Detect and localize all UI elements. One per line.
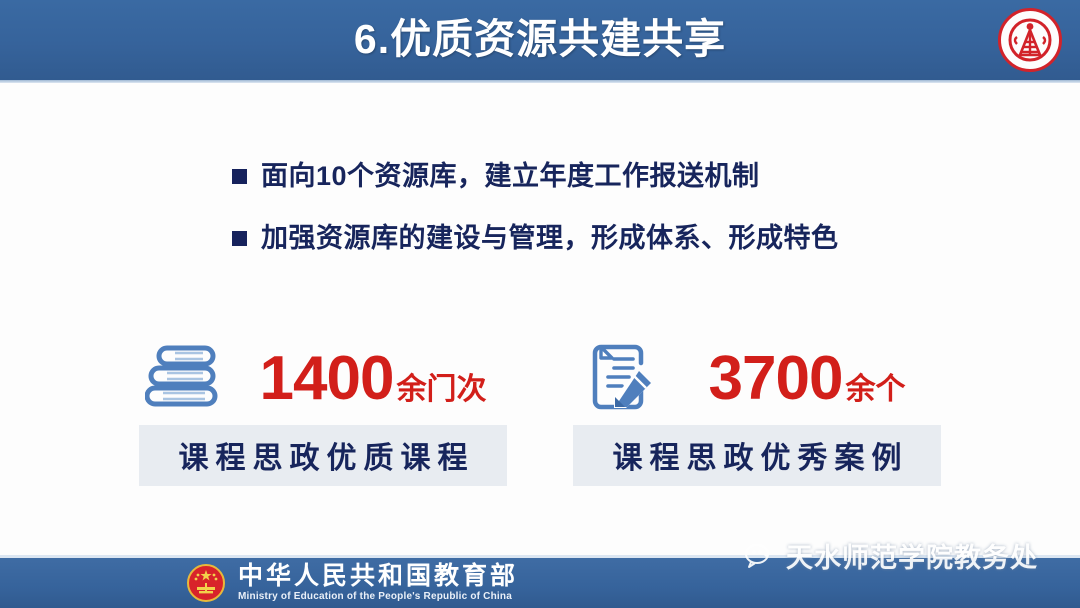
stat-unit: 余个 [845, 375, 905, 405]
slide-body: 面向10个资源库，建立年度工作报送机制 加强资源库的建设与管理，形成体系、形成特… [0, 83, 1080, 558]
ministry-of-education-logo: 中华人民共和国教育部 Ministry of Education of the … [186, 558, 518, 608]
watermark-label: 天水师范学院教务处 [786, 543, 1038, 573]
slide-canvas: 6.优质资源共建共享 面向10个资源库，建立年度工作报送机制 加强资源库的建设与… [0, 0, 1080, 608]
wechat-watermark: 天水师范学院教务处 [744, 543, 1038, 573]
stat-top-row: 1400 余门次 [139, 333, 507, 425]
ministry-text: 中华人民共和国教育部 Ministry of Education of the … [238, 563, 518, 603]
document-pencil-icon [573, 339, 669, 419]
ministry-name-en: Ministry of Education of the People's Re… [238, 590, 518, 603]
list-item: 面向10个资源库，建立年度工作报送机制 [232, 158, 1032, 194]
ministry-name-cn: 中华人民共和国教育部 [238, 563, 518, 590]
page-title: 6.优质资源共建共享 [0, 8, 1080, 70]
stacked-books-icon [139, 341, 235, 417]
stat-block-cases: 3700 余个 课程思政优秀案例 [573, 333, 941, 486]
china-national-emblem [186, 563, 226, 603]
stat-value-group: 3700 余个 [669, 348, 941, 410]
stat-value-group: 1400 余门次 [235, 348, 507, 410]
stat-unit: 余门次 [396, 375, 486, 405]
stat-number: 3700 [709, 348, 843, 410]
bullet-text: 加强资源库的建设与管理，形成体系、形成特色 [261, 220, 839, 256]
bullet-text: 面向10个资源库，建立年度工作报送机制 [261, 158, 760, 194]
bullet-square-icon [232, 231, 247, 246]
bullet-square-icon [232, 169, 247, 184]
statistics-row: 1400 余门次 课程思政优质课程 [0, 333, 1080, 486]
stat-block-courses: 1400 余门次 课程思政优质课程 [139, 333, 507, 486]
stat-label: 课程思政优质课程 [139, 425, 507, 486]
stat-number: 1400 [260, 348, 394, 410]
list-item: 加强资源库的建设与管理，形成体系、形成特色 [232, 220, 1032, 256]
bullet-list: 面向10个资源库，建立年度工作报送机制 加强资源库的建设与管理，形成体系、形成特… [232, 158, 1032, 282]
wechat-icon [744, 543, 778, 573]
stat-label: 课程思政优秀案例 [573, 425, 941, 486]
pagoda-tower-logo [998, 8, 1062, 72]
stat-top-row: 3700 余个 [573, 333, 941, 425]
